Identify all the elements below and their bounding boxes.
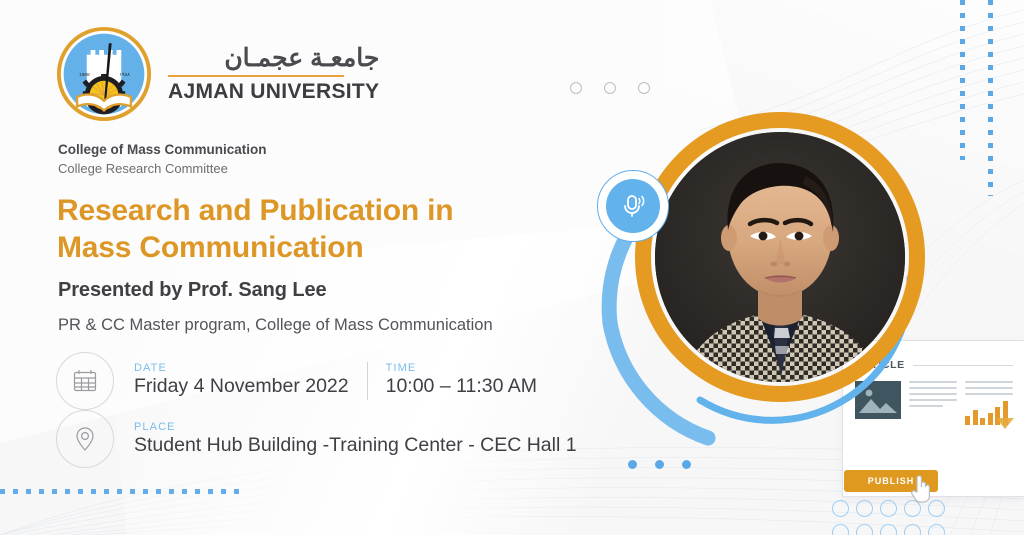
brand-divider-rule xyxy=(168,75,344,77)
ajman-university-emblem-icon: 1988 ١٩٨٨ xyxy=(56,26,152,122)
dotted-row-bottom xyxy=(0,489,240,494)
place-row: PLACE Student Hub Building -Training Cen… xyxy=(56,410,577,468)
ring-cell xyxy=(904,524,921,535)
ring-dots-group xyxy=(570,82,650,94)
ring-dot xyxy=(638,82,650,94)
text-line xyxy=(965,381,1013,383)
date-label: DATE xyxy=(134,362,349,374)
dotted-column-2 xyxy=(988,0,993,196)
date-value: Friday 4 November 2022 xyxy=(134,375,349,398)
blue-dot xyxy=(655,460,664,469)
emblem-year-right: ١٩٨٨ xyxy=(119,72,130,78)
microphone-badge xyxy=(597,170,669,242)
place-field: PLACE Student Hub Building -Training Cen… xyxy=(134,421,577,457)
calendar-icon xyxy=(56,352,114,410)
brand-name-arabic: جامعـة عجمـان xyxy=(168,45,379,73)
ring-cell xyxy=(856,524,873,535)
orange-accent-mark xyxy=(996,418,1014,429)
ring-cell xyxy=(832,500,849,517)
college-name: College of Mass Communication xyxy=(58,140,267,160)
brand-logo: 1988 ١٩٨٨ جامعـة عجمـان AJMAN UNIVERSITY xyxy=(56,26,379,122)
ring-dot xyxy=(570,82,582,94)
place-label: PLACE xyxy=(134,421,577,433)
date-field: DATE Friday 4 November 2022 xyxy=(134,362,349,398)
hand-cursor-icon xyxy=(908,472,934,509)
committee-name: College Research Committee xyxy=(58,160,267,179)
ring-grid-decoration xyxy=(832,500,952,535)
ring-cell xyxy=(880,524,897,535)
page-title-line-2: Mass Communication xyxy=(57,229,453,266)
microphone-icon xyxy=(606,179,660,233)
emblem-year-left: 1988 xyxy=(79,72,90,78)
ring-dot xyxy=(604,82,616,94)
event-poster: 1988 ١٩٨٨ جامعـة عجمـان AJMAN UNIVERSITY… xyxy=(0,0,1024,535)
date-time-row: DATE Friday 4 November 2022 TIME 10:00 –… xyxy=(56,352,537,410)
blue-dot xyxy=(682,460,691,469)
text-line xyxy=(965,393,1013,395)
ring-cell xyxy=(832,524,849,535)
time-value: 10:00 – 11:30 AM xyxy=(386,375,537,398)
dotted-column-1 xyxy=(960,0,965,160)
presenter-name: Presented by Prof. Sang Lee xyxy=(58,279,327,302)
ring-cell xyxy=(880,500,897,517)
place-fields: PLACE Student Hub Building -Training Cen… xyxy=(134,421,577,457)
text-line xyxy=(965,387,1013,389)
time-label: TIME xyxy=(386,362,537,374)
place-value: Student Hub Building -Training Center - … xyxy=(134,434,577,457)
brand-wordmark: جامعـة عجمـان AJMAN UNIVERSITY xyxy=(168,45,379,104)
page-title: Research and Publication in Mass Communi… xyxy=(57,192,453,266)
date-time-fields: DATE Friday 4 November 2022 TIME 10:00 –… xyxy=(134,362,537,400)
map-pin-icon xyxy=(56,410,114,468)
field-divider xyxy=(367,362,368,400)
brand-name-english: AJMAN UNIVERSITY xyxy=(168,80,379,104)
speaker-portrait xyxy=(580,108,930,458)
program-subtitle: PR & CC Master program, College of Mass … xyxy=(58,316,493,335)
speaker-photo xyxy=(655,132,905,382)
blue-dots-group xyxy=(628,460,691,469)
blue-dot xyxy=(628,460,637,469)
college-block: College of Mass Communication College Re… xyxy=(58,140,267,178)
ring-cell xyxy=(856,500,873,517)
ring-cell xyxy=(928,524,945,535)
page-title-line-1: Research and Publication in xyxy=(57,192,453,229)
time-field: TIME 10:00 – 11:30 AM xyxy=(386,362,537,398)
